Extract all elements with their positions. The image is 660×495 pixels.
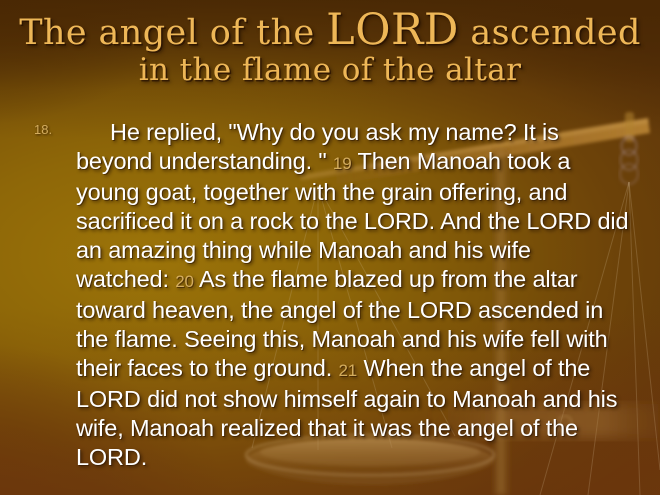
scripture-paragraph: He replied, "Why do you ask my name? It … bbox=[76, 118, 630, 472]
list-marker: 18. bbox=[34, 122, 52, 137]
title-line-2: in the flame of the altar bbox=[0, 54, 660, 87]
presentation-slide: The angel of the LORD ascended in the fl… bbox=[0, 0, 660, 495]
title-lord-word: LORD bbox=[326, 5, 459, 55]
title-line-1-after: ascended bbox=[459, 13, 641, 53]
title-line-1-before: The angel of the bbox=[19, 13, 326, 53]
slide-body: 18. He replied, "Why do you ask my name?… bbox=[34, 118, 630, 472]
verse-number: 19 bbox=[333, 154, 352, 173]
title-line-1: The angel of the LORD ascended bbox=[0, 8, 660, 54]
slide-title: The angel of the LORD ascended in the fl… bbox=[0, 8, 660, 86]
verse-number: 20 bbox=[175, 272, 194, 291]
verse-number: 21 bbox=[338, 361, 357, 380]
